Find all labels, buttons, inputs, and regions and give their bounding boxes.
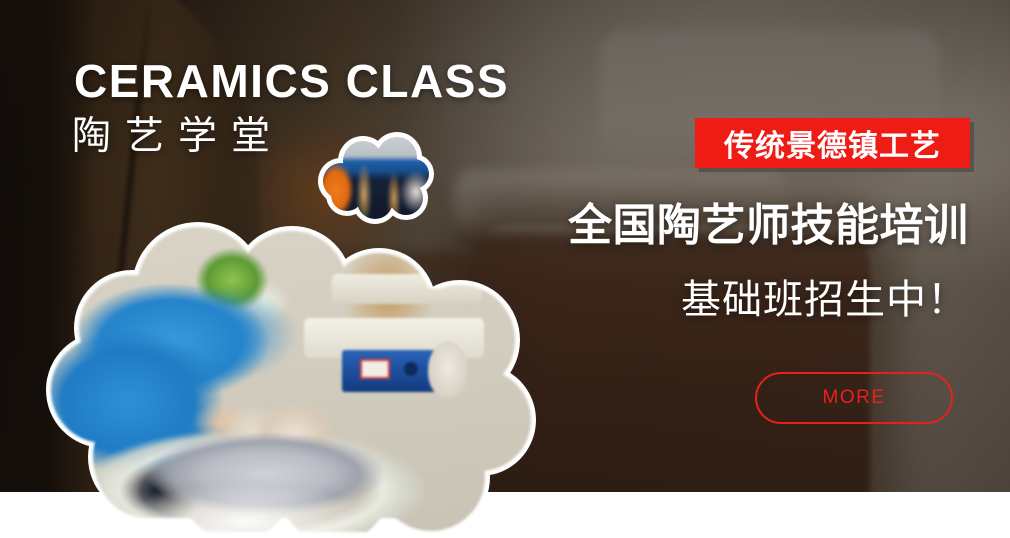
cloud-photo-small (318, 132, 434, 224)
page-title-chinese: 陶艺学堂 (72, 113, 284, 161)
more-button-label: MORE (823, 387, 886, 409)
cloud-large-window-core (96, 288, 476, 518)
promo-badge: 传统景德镇工艺 (695, 118, 970, 168)
page-title-english: CERAMICS CLASS (74, 55, 509, 107)
promo-headline: 全国陶艺师技能培训 (568, 199, 968, 253)
more-button[interactable]: MORE (755, 372, 953, 424)
cloud-photo-large (36, 222, 536, 532)
ceramics-class-banner: CERAMICS CLASS 陶艺学堂 (0, 0, 1010, 538)
cloud-small-window-core (344, 160, 406, 206)
promo-badge-label: 传统景德镇工艺 (724, 121, 941, 165)
promo-subheadline: 基础班招生中！ (568, 274, 968, 326)
